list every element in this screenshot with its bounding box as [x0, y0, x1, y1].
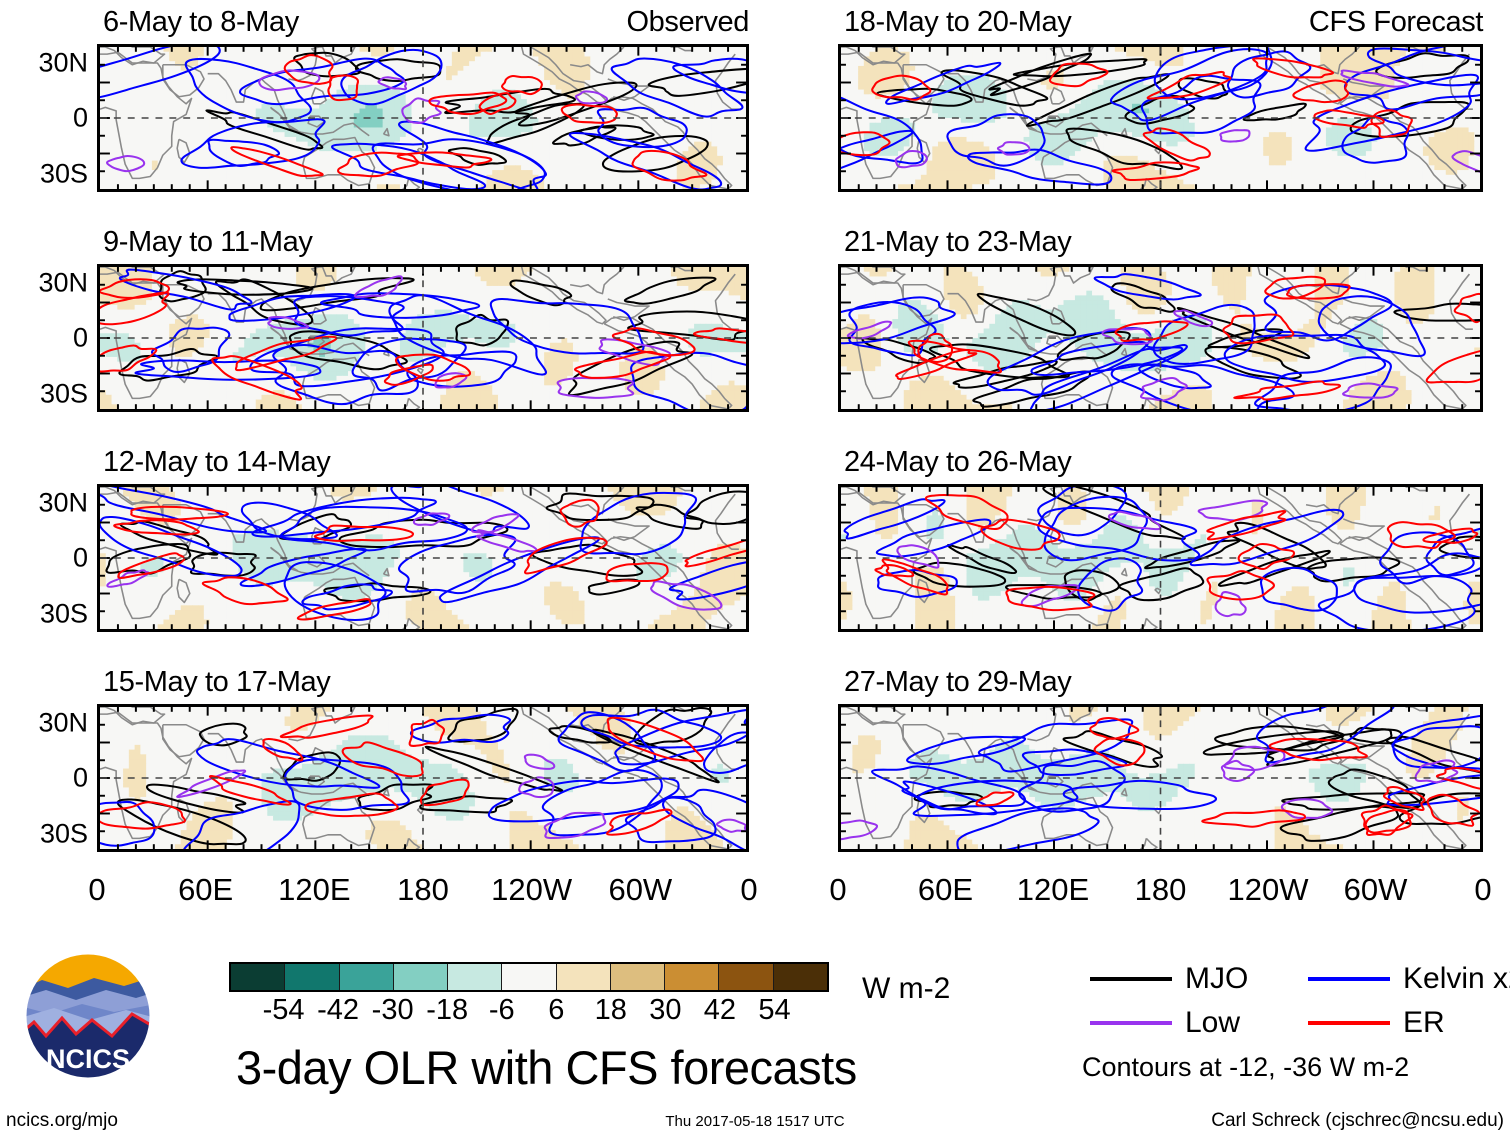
- x-tick-label-1-5: 60W: [1344, 872, 1408, 908]
- colorbar-tick-2: -30: [372, 994, 414, 1027]
- colorbar-tick-8: 42: [704, 994, 736, 1027]
- colorbar-tick-9: 54: [758, 994, 790, 1027]
- colorbar-gradient: [229, 962, 829, 992]
- map-canvas-p2[interactable]: [97, 264, 749, 412]
- map-canvas-p1[interactable]: [97, 44, 749, 192]
- x-axis-left: 060E120E180120W60W0: [97, 872, 749, 912]
- y-tick-label-p2-0: 30N: [38, 267, 88, 298]
- x-tick-label-0-4: 120W: [491, 872, 572, 908]
- map-panel-p4: 15-May to 17-May30N030S: [97, 704, 749, 852]
- map-canvas-p6[interactable]: [838, 264, 1483, 412]
- map-panel-p2: 9-May to 11-May30N030S: [97, 264, 749, 412]
- panel-title-p6: 21-May to 23-May: [844, 226, 1071, 259]
- colorbar-tick-4: -6: [489, 994, 515, 1027]
- colorbar-tick-1: -42: [317, 994, 359, 1027]
- colorbar-tick-5: 6: [548, 994, 564, 1027]
- legend-entry-low: Low: [1090, 1006, 1240, 1040]
- panel-title-p1: 6-May to 8-May: [103, 6, 299, 39]
- colorbar-tick-0: -54: [263, 994, 305, 1027]
- legend-note: Contours at -12, -36 W m-2: [1082, 1052, 1409, 1083]
- colorbar-segment-3: [394, 964, 448, 990]
- colorbar-segment-2: [340, 964, 394, 990]
- legend-swatch-low: [1090, 1021, 1172, 1025]
- ncics-logo[interactable]: NCICS: [20, 948, 156, 1084]
- legend-label-kelvin: Kelvin x2: [1403, 962, 1510, 996]
- colorbar-segment-4: [448, 964, 502, 990]
- y-tick-label-p4-2: 30S: [40, 818, 88, 849]
- main-title: 3-day OLR with CFS forecasts: [236, 1040, 857, 1095]
- x-tick-label-0-1: 60E: [178, 872, 233, 908]
- legend-entry-er: ER: [1308, 1006, 1445, 1040]
- footer-author: Carl Schreck (cjschrec@ncsu.edu): [1211, 1110, 1504, 1132]
- map-canvas-p4[interactable]: [97, 704, 749, 852]
- y-tick-label-p1-2: 30S: [40, 158, 88, 189]
- colorbar-segment-6: [557, 964, 611, 990]
- map-canvas-p5[interactable]: [838, 44, 1483, 192]
- colorbar-segment-7: [611, 964, 665, 990]
- legend-swatch-er: [1308, 1021, 1390, 1025]
- y-tick-label-p4-1: 0: [73, 763, 88, 794]
- y-tick-label-p3-2: 30S: [40, 598, 88, 629]
- colorbar-units-label: W m-2: [862, 972, 950, 1006]
- panel-corner-label-p5: CFS Forecast: [1309, 6, 1483, 39]
- colorbar-ticks: -54-42-30-18-6618304254: [229, 992, 829, 1026]
- footer-timestamp: Thu 2017-05-18 1517 UTC: [665, 1113, 844, 1130]
- map-panel-p1: 6-May to 8-MayObserved30N030S: [97, 44, 749, 192]
- colorbar-segment-9: [719, 964, 773, 990]
- panel-title-p2: 9-May to 11-May: [103, 226, 312, 259]
- map-panel-p3: 12-May to 14-May30N030S: [97, 484, 749, 632]
- map-canvas-p8[interactable]: [838, 704, 1483, 852]
- y-tick-label-p1-1: 0: [73, 103, 88, 134]
- panel-title-p4: 15-May to 17-May: [103, 666, 330, 699]
- y-tick-label-p3-0: 30N: [38, 487, 88, 518]
- x-tick-label-1-0: 0: [829, 872, 846, 908]
- panel-corner-label-p1: Observed: [626, 6, 749, 39]
- legend-entry-kelvin: Kelvin x2: [1308, 962, 1510, 996]
- y-tick-label-p3-1: 0: [73, 543, 88, 574]
- footer-link[interactable]: ncics.org/mjo: [6, 1110, 118, 1132]
- panel-title-p8: 27-May to 29-May: [844, 666, 1071, 699]
- legend-entry-mjo: MJO: [1090, 962, 1248, 996]
- map-canvas-p7[interactable]: [838, 484, 1483, 632]
- panel-title-p7: 24-May to 26-May: [844, 446, 1071, 479]
- map-canvas-p3[interactable]: [97, 484, 749, 632]
- x-tick-label-0-3: 180: [397, 872, 449, 908]
- x-tick-label-0-6: 0: [740, 872, 757, 908]
- colorbar: -54-42-30-18-6618304254: [229, 962, 829, 1026]
- x-tick-label-0-2: 120E: [278, 872, 350, 908]
- colorbar-segment-8: [665, 964, 719, 990]
- legend-label-er: ER: [1403, 1006, 1445, 1040]
- x-tick-label-0-5: 60W: [608, 872, 672, 908]
- x-tick-label-1-3: 180: [1135, 872, 1187, 908]
- map-panel-p7: 24-May to 26-May: [838, 484, 1483, 632]
- y-tick-label-p2-2: 30S: [40, 378, 88, 409]
- colorbar-tick-3: -18: [426, 994, 468, 1027]
- panel-title-p5: 18-May to 20-May: [844, 6, 1071, 39]
- colorbar-tick-7: 30: [649, 994, 681, 1027]
- y-tick-label-p2-1: 0: [73, 323, 88, 354]
- legend-label-mjo: MJO: [1185, 962, 1248, 996]
- x-tick-label-0-0: 0: [88, 872, 105, 908]
- logo-text: NCICS: [46, 1044, 130, 1074]
- colorbar-segment-0: [231, 964, 285, 990]
- colorbar-tick-6: 18: [595, 994, 627, 1027]
- colorbar-segment-1: [285, 964, 339, 990]
- y-tick-label-p4-0: 30N: [38, 707, 88, 738]
- map-panel-p6: 21-May to 23-May: [838, 264, 1483, 412]
- legend-swatch-kelvin: [1308, 977, 1390, 981]
- map-panel-p8: 27-May to 29-May: [838, 704, 1483, 852]
- colorbar-segment-5: [502, 964, 556, 990]
- contour-legend: MJO Kelvin x2 Low ER: [1090, 962, 1500, 1042]
- legend-swatch-mjo: [1090, 977, 1172, 981]
- figure-root: 6-May to 8-MayObserved30N030S9-May to 11…: [0, 0, 1510, 1137]
- ncics-logo-graphic: NCICS: [20, 948, 156, 1084]
- x-axis-right: 060E120E180120W60W0: [838, 872, 1483, 912]
- x-tick-label-1-1: 60E: [918, 872, 973, 908]
- legend-label-low: Low: [1185, 1006, 1240, 1040]
- colorbar-segment-10: [774, 964, 827, 990]
- y-tick-label-p1-0: 30N: [38, 47, 88, 78]
- panel-title-p3: 12-May to 14-May: [103, 446, 330, 479]
- map-panel-p5: 18-May to 20-MayCFS Forecast: [838, 44, 1483, 192]
- x-tick-label-1-2: 120E: [1017, 872, 1089, 908]
- x-tick-label-1-4: 120W: [1228, 872, 1309, 908]
- x-tick-label-1-6: 0: [1474, 872, 1491, 908]
